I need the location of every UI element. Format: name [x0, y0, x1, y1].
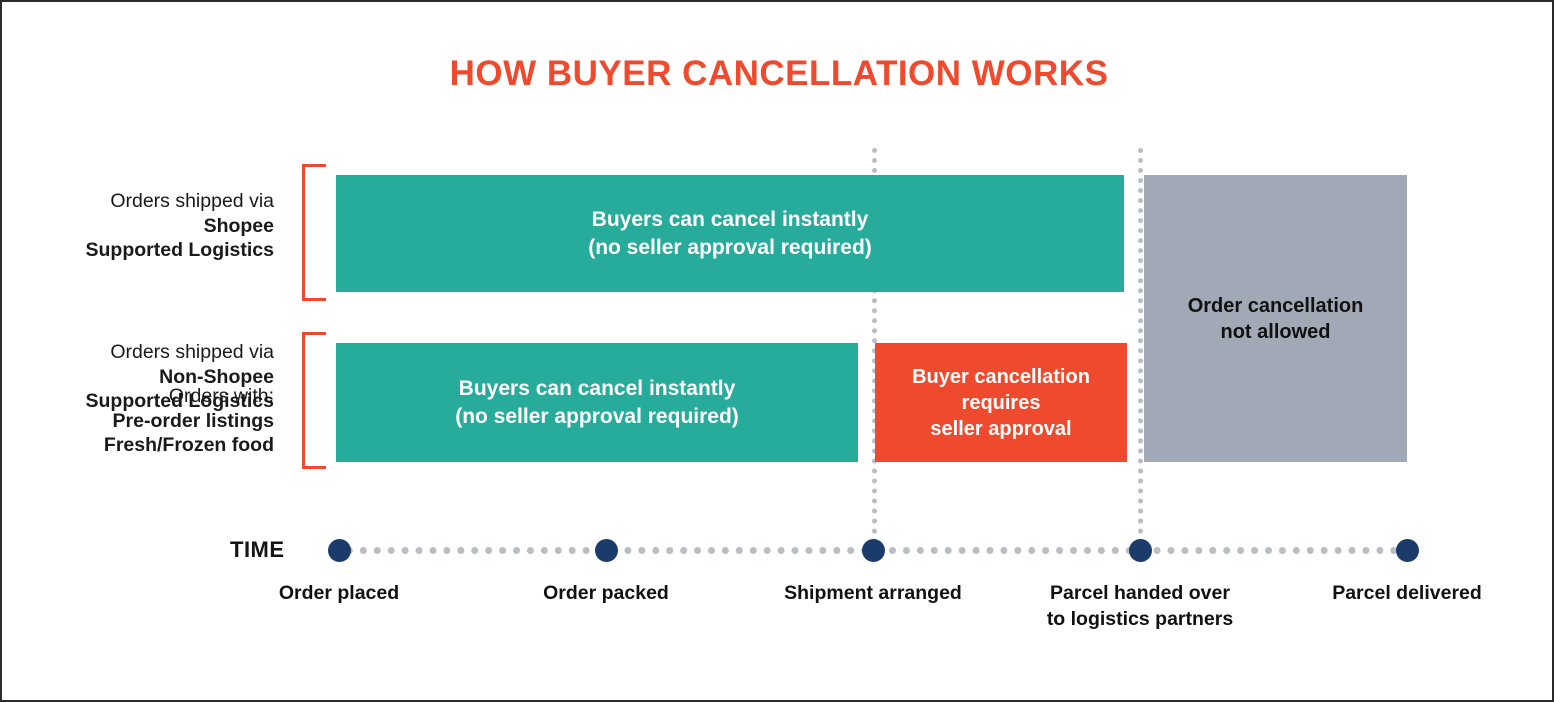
bar-text-line2: (no seller approval required)	[588, 234, 872, 261]
timeline-caption-order-packed: Order packed	[466, 580, 746, 606]
caption-line1: Parcel delivered	[1267, 580, 1547, 606]
infographic-canvas: HOW BUYER CANCELLATION WORKS Orders ship…	[0, 0, 1554, 702]
row-label-special-orders: Orders with: Pre-order listings Fresh/Fr…	[44, 384, 274, 458]
timeline-caption-order-placed: Order placed	[199, 580, 479, 606]
timeline-caption-parcel-delivered: Parcel delivered	[1267, 580, 1547, 606]
bar-text-line1: Buyers can cancel instantly	[588, 206, 872, 233]
caption-line1: Parcel handed over	[1000, 580, 1280, 606]
bar-text-line2: (no seller approval required)	[455, 403, 739, 430]
caption-line1: Shipment arranged	[733, 580, 1013, 606]
timeline-caption-shipment-arranged: Shipment arranged	[733, 580, 1013, 606]
timeline-caption-parcel-handed-over: Parcel handed over to logistics partners	[1000, 580, 1280, 633]
bar-text-line1: Buyer cancellation	[912, 364, 1090, 390]
page-title: HOW BUYER CANCELLATION WORKS	[2, 54, 1554, 94]
timeline-dot-parcel-delivered[interactable]	[1396, 539, 1419, 562]
row-label-line1: Orders with:	[44, 384, 274, 409]
row-label-line3: Fresh/Frozen food	[44, 433, 274, 458]
row-label-line1: Orders shipped via	[44, 340, 274, 365]
bar-requires-seller-approval: Buyer cancellation requires seller appro…	[875, 343, 1127, 462]
row-label-line1: Orders shipped via	[44, 189, 274, 214]
row-label-shopee-logistics: Orders shipped via Shopee Supported Logi…	[44, 189, 274, 263]
row-label-line2: Shopee	[44, 214, 274, 239]
bar-text-line2: not allowed	[1188, 319, 1364, 345]
row-label-line3: Supported Logistics	[44, 238, 274, 263]
caption-line2: to logistics partners	[1000, 606, 1280, 632]
bar-cancellation-not-allowed: Order cancellation not allowed	[1144, 175, 1407, 462]
bracket-icon-row2	[302, 332, 326, 469]
bar-instant-cancel-row1: Buyers can cancel instantly (no seller a…	[336, 175, 1124, 292]
timeline-dot-order-packed[interactable]	[595, 539, 618, 562]
caption-line1: Order placed	[199, 580, 479, 606]
bar-text-line1: Buyers can cancel instantly	[455, 375, 739, 402]
timeline-axis-label: TIME	[230, 537, 285, 563]
bar-text-line2: requires	[912, 390, 1090, 416]
bar-instant-cancel-row2: Buyers can cancel instantly (no seller a…	[336, 343, 858, 462]
timeline-dot-shipment-arranged[interactable]	[862, 539, 885, 562]
timeline-dot-order-placed[interactable]	[328, 539, 351, 562]
bar-text-line1: Order cancellation	[1188, 293, 1364, 319]
row-label-line2: Pre-order listings	[44, 409, 274, 434]
bracket-icon-row1	[302, 164, 326, 301]
timeline-dot-parcel-handed-over[interactable]	[1129, 539, 1152, 562]
caption-line1: Order packed	[466, 580, 746, 606]
bar-text-line3: seller approval	[912, 416, 1090, 442]
